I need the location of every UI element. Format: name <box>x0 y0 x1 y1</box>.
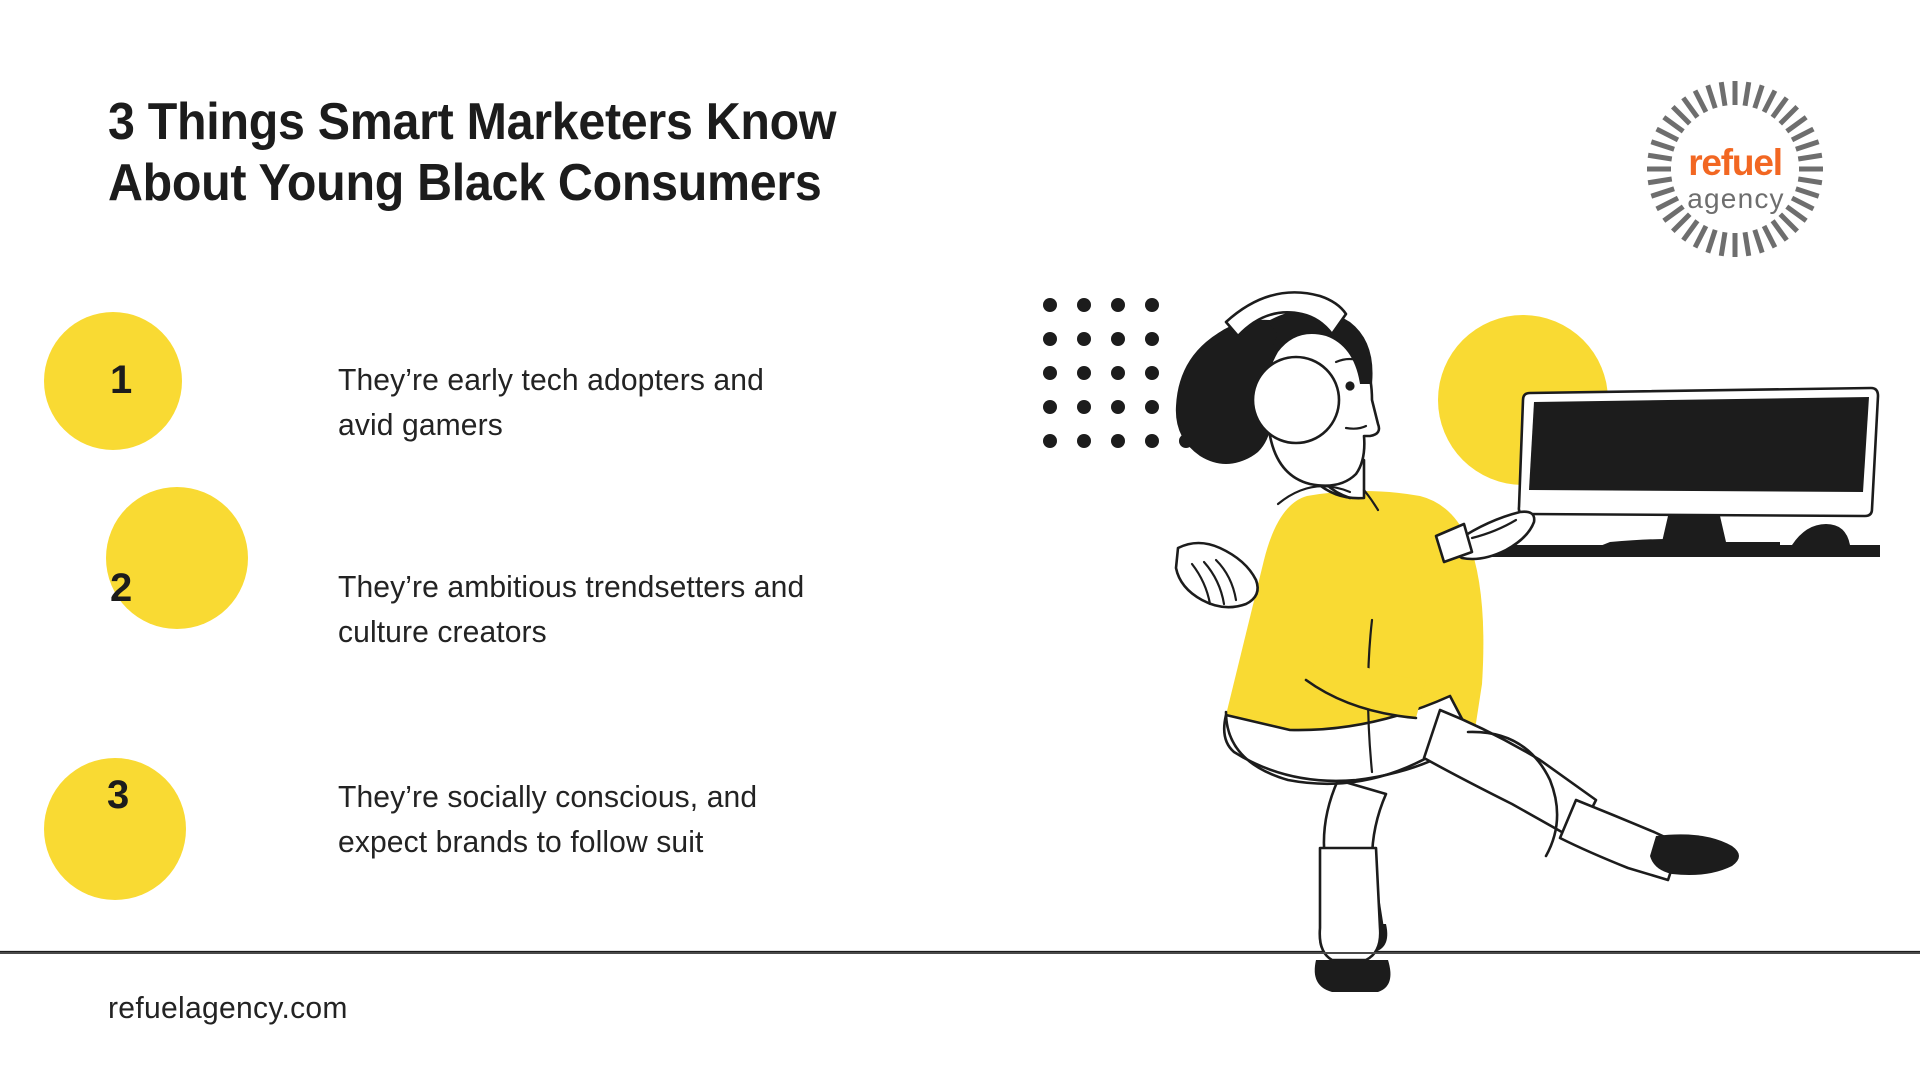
bullet-number-2: 2 <box>110 568 132 608</box>
mouse <box>1792 524 1850 545</box>
bullet-number-3: 3 <box>107 775 129 815</box>
key-points-list: 1 They’re early tech adopters and avid g… <box>0 0 1000 1080</box>
footer-url[interactable]: refuelagency.com <box>108 990 348 1026</box>
list-item-text-3: They’re socially conscious, and expect b… <box>338 775 959 865</box>
footer-divider <box>0 952 1920 954</box>
bullet-number-1: 1 <box>110 360 132 400</box>
list-item-text-1: They’re early tech adopters and avid gam… <box>338 358 959 448</box>
woman-with-headphones-at-computer-illustration: .ln { fill:none; stroke:#1C1C1C; stroke-… <box>1020 260 1880 1050</box>
refuel-agency-logo[interactable]: refuel agency <box>1636 70 1834 268</box>
logo-word-refuel: refuel <box>1688 142 1782 183</box>
dot-grid <box>1043 298 1193 448</box>
infographic-canvas: 3 Things Smart Marketers Know About Youn… <box>0 0 1920 1080</box>
logo-word-agency: agency <box>1687 183 1785 214</box>
list-item-text-2: They’re ambitious trendsetters and cultu… <box>338 565 959 655</box>
